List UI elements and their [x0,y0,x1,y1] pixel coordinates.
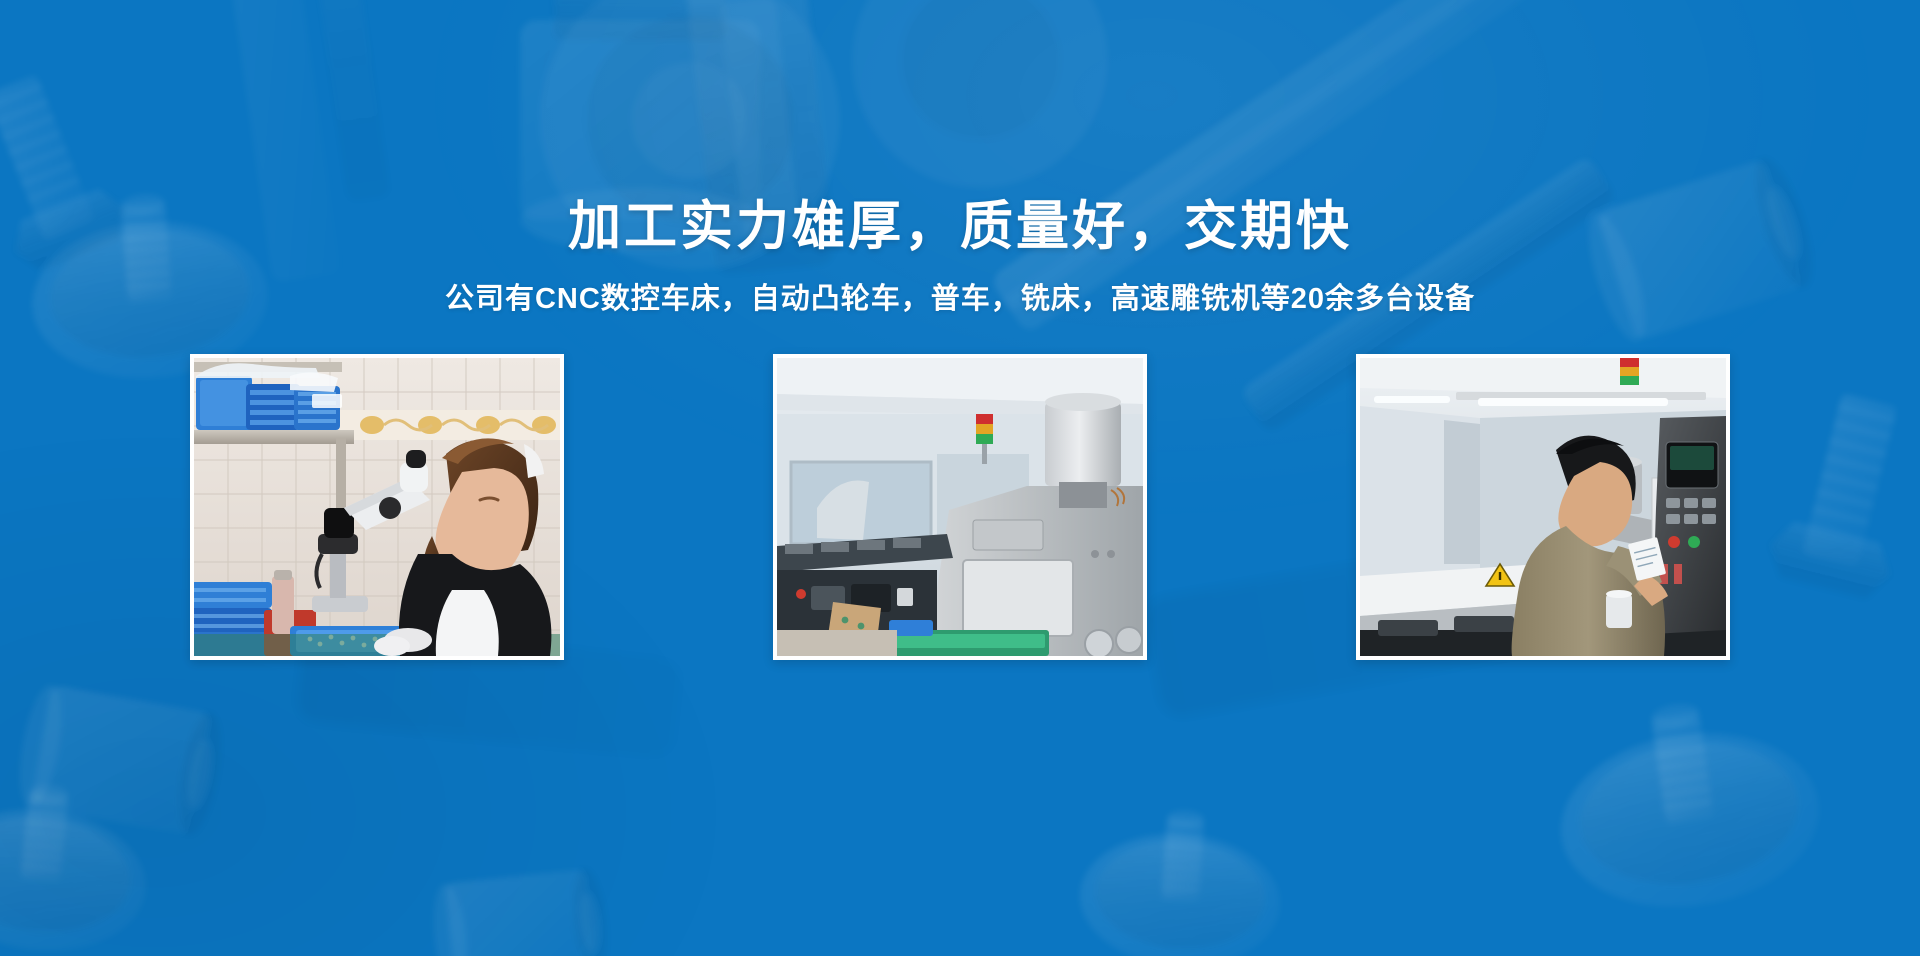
photo-gallery [190,354,1730,664]
photo-cnc-machine-shop-image [777,358,1143,656]
photo-microscope-inspection[interactable] [190,354,564,660]
banner-section: 加工实力雄厚，质量好，交期快 公司有CNC数控车床，自动凸轮车，普车，铣床，高速… [0,0,1920,956]
photo-operator-at-cnc-image [1360,358,1726,656]
banner-text-block: 加工实力雄厚，质量好，交期快 公司有CNC数控车床，自动凸轮车，普车，铣床，高速… [0,196,1920,318]
page-title: 加工实力雄厚，质量好，交期快 [0,196,1920,258]
photo-cnc-machine-shop[interactable] [773,354,1147,660]
photo-microscope-inspection-image [194,358,560,656]
photo-operator-at-cnc[interactable] [1356,354,1730,660]
page-subtitle: 公司有CNC数控车床，自动凸轮车，普车，铣床，高速雕铣机等20余多台设备 [0,280,1920,318]
